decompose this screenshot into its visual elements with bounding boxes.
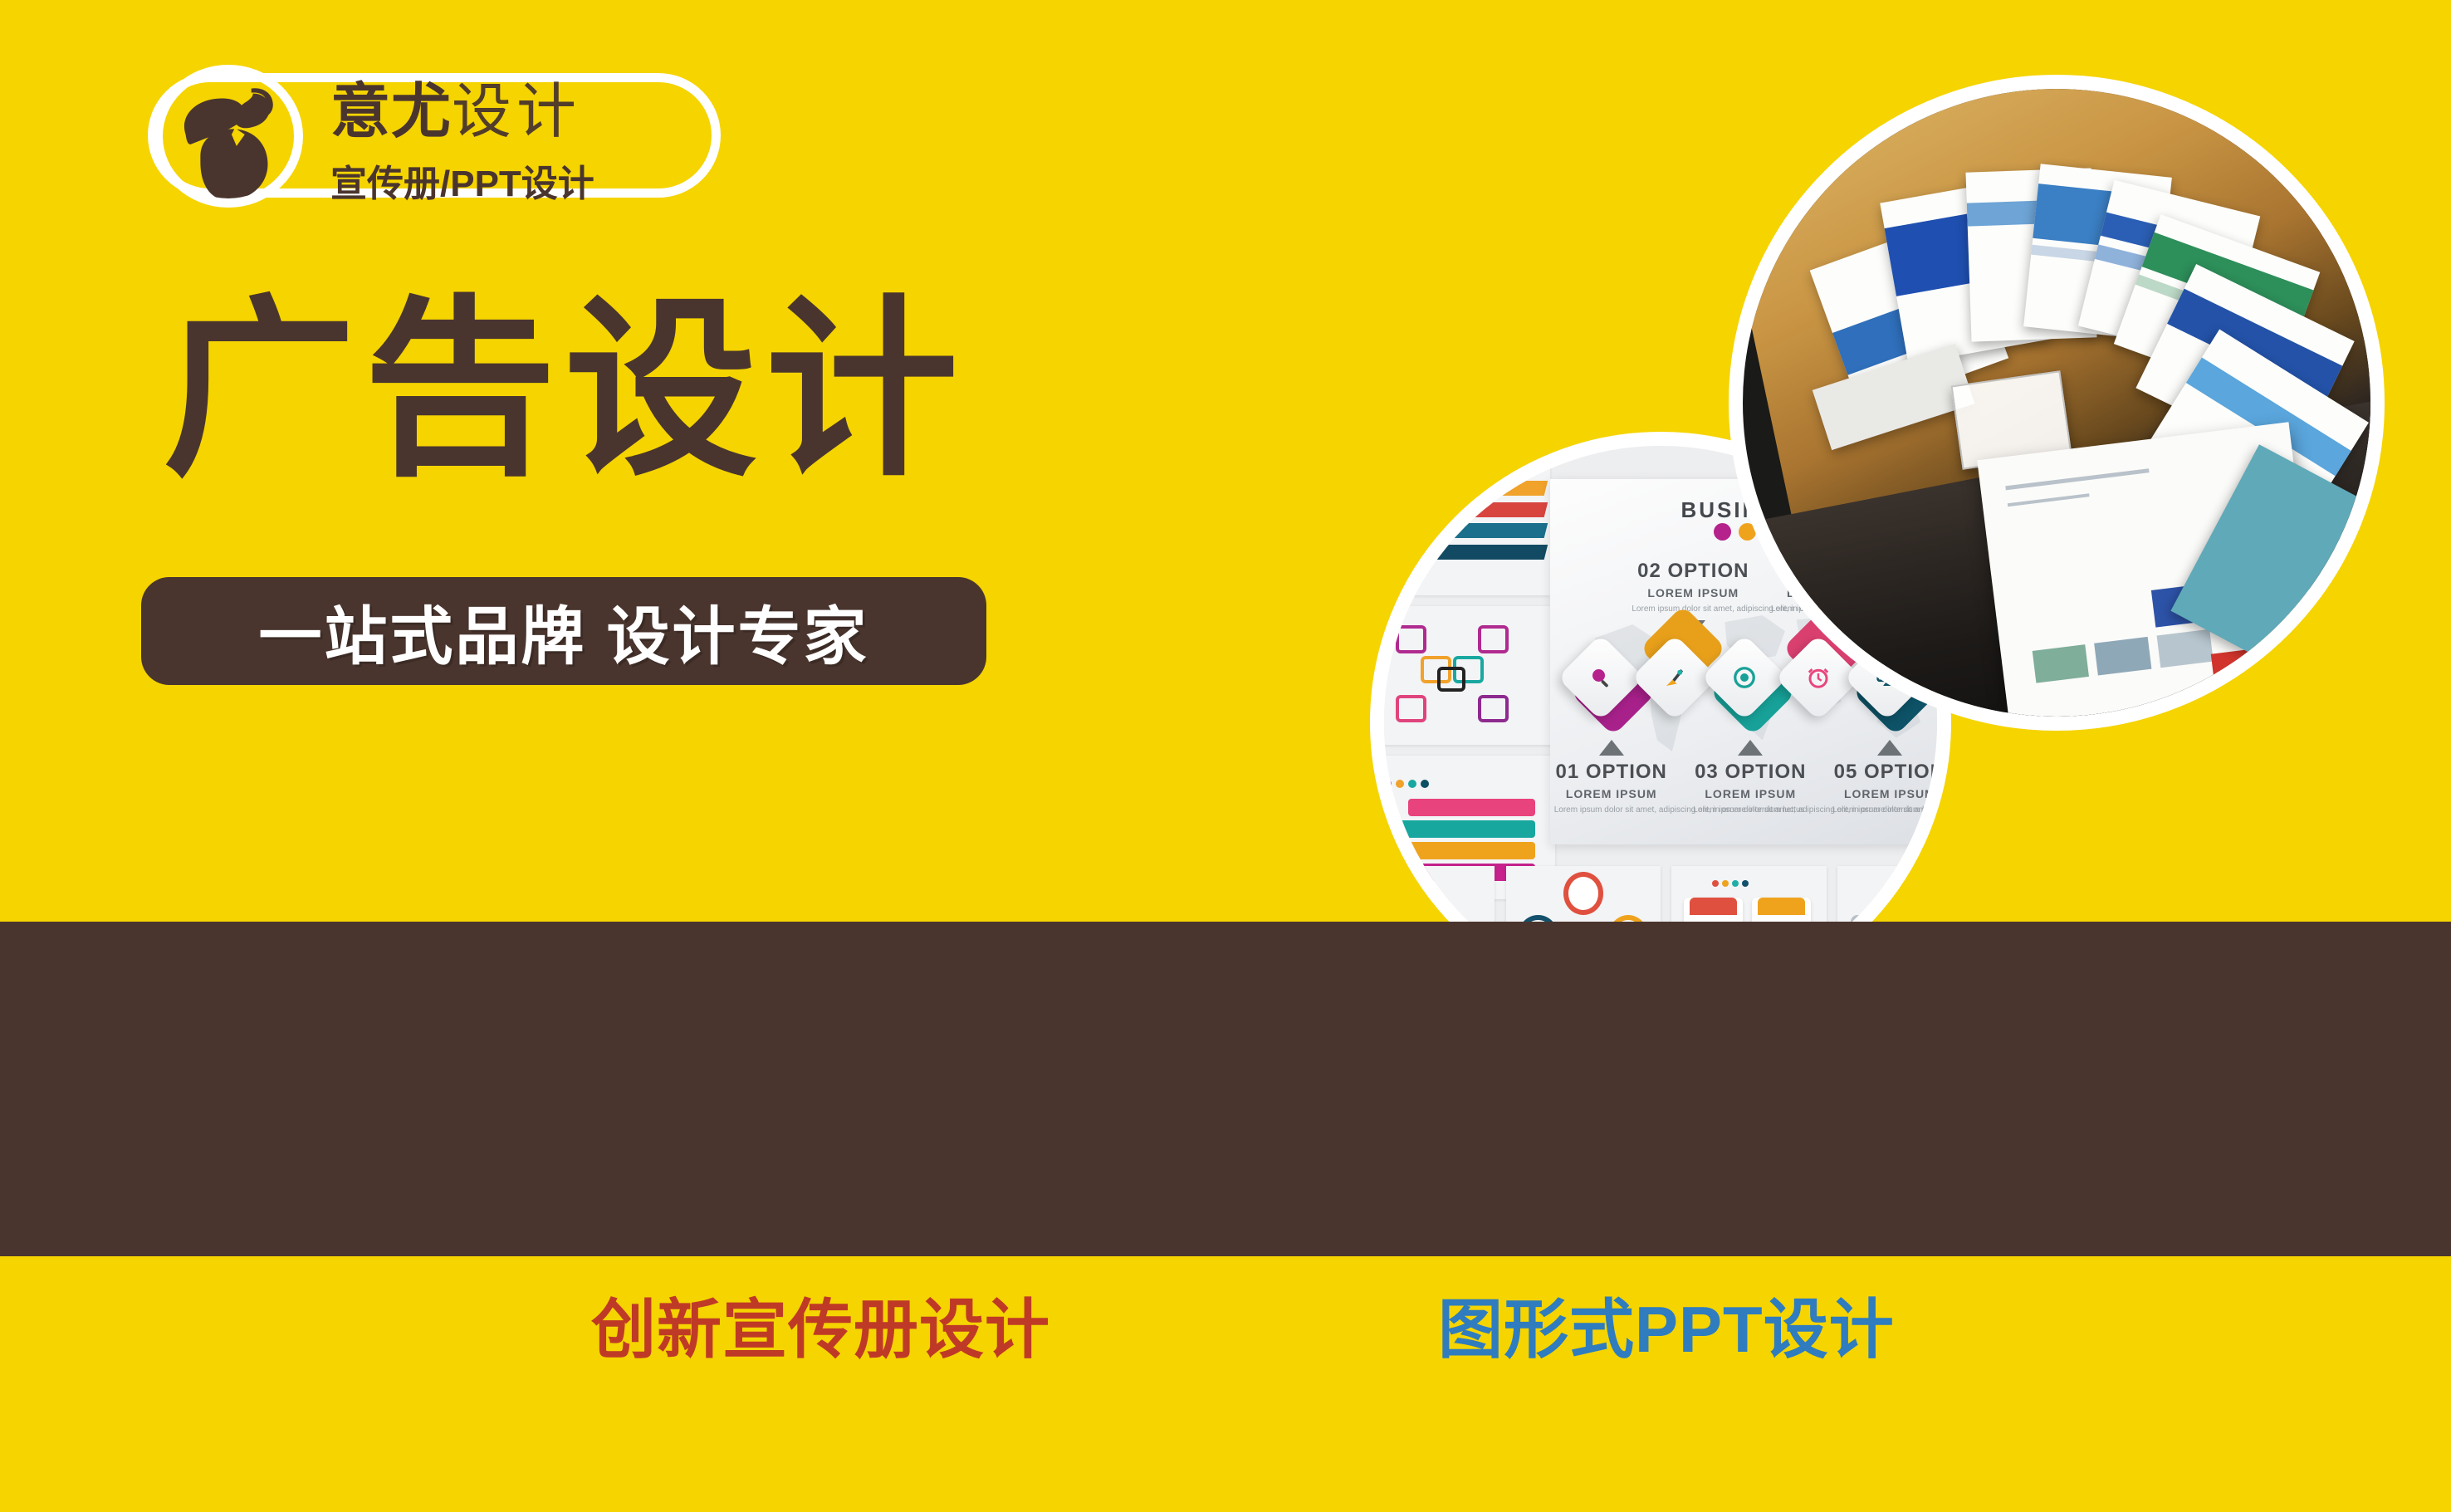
front-brochure-title-line xyxy=(2006,468,2150,490)
front-brochure-photo-block xyxy=(2157,630,2214,668)
up-triangle-icon xyxy=(1599,740,1624,756)
option-number: 05 OPTION xyxy=(1832,761,1947,784)
pyramid-layer xyxy=(1396,820,1535,838)
matrix-node xyxy=(1478,625,1509,653)
caption-left: 创新宣传册设计 xyxy=(591,1297,1050,1362)
ribbon-bar xyxy=(1370,523,1548,538)
front-brochure-title-line xyxy=(2008,493,2089,506)
up-triangle-icon xyxy=(1877,740,1902,756)
matrix-node xyxy=(1396,625,1426,653)
matrix-node xyxy=(1478,695,1509,722)
pyramid-layer xyxy=(1408,799,1535,816)
cross-matrix-tile xyxy=(1370,606,1555,745)
ribbon-tile xyxy=(1370,462,1550,595)
ribbon-bar xyxy=(1370,502,1548,517)
cycle-node-01 xyxy=(1563,872,1603,915)
logo-subtitle: 宣传册/PPT设计 xyxy=(330,154,594,207)
logo-title-bold: 意尤 xyxy=(330,79,452,145)
rocket-icon xyxy=(1662,665,1687,690)
option-number: 03 OPTION xyxy=(1693,761,1808,784)
option-label: LOREM IPSUM xyxy=(1554,787,1669,800)
step-tab xyxy=(1690,898,1737,915)
option-number: 01 OPTION xyxy=(1554,761,1669,784)
logo-oval-ring xyxy=(154,65,303,208)
pyramid-layer xyxy=(1382,842,1535,859)
option-desc: Lorem ipsum dolor sit amet, adipiscing e… xyxy=(1693,804,1808,816)
matrix-center xyxy=(1437,667,1465,692)
option-block-03: 03 OPTION LOREM IPSUM Lorem ipsum dolor … xyxy=(1693,735,1808,816)
ribbon-bar xyxy=(1370,545,1548,560)
tile-dotrow xyxy=(1712,880,1749,887)
step-tab xyxy=(1758,898,1805,915)
option-desc: Lorem ipsum dolor sit amet, adipiscing e… xyxy=(1554,804,1669,816)
option-label: LOREM IPSUM xyxy=(1832,787,1947,800)
matrix-node xyxy=(1396,695,1426,722)
caption-right: 图形式PPT设计 xyxy=(1438,1297,1895,1362)
red-seal-stamp xyxy=(2211,649,2252,690)
page-title: 广告设计 xyxy=(163,295,966,487)
option-label: LOREM IPSUM xyxy=(1632,586,1754,599)
logo-title-thin: 设计 xyxy=(452,76,581,146)
poster-canvas: BUSINESS TEMPLATE 02 OPTION LOREM IPSUM … xyxy=(0,0,2451,1512)
logo-title: 意尤设计 xyxy=(330,81,581,142)
ribbon-bar xyxy=(1372,481,1548,496)
front-brochure-photo-block xyxy=(2095,638,2151,676)
banner-band xyxy=(0,922,2451,1256)
tagline-badge: 一站式品牌 设计专家 xyxy=(141,577,986,685)
option-number: 02 OPTION xyxy=(1632,560,1754,583)
tile-dotrow xyxy=(1390,889,1436,896)
option-desc: Lorem ipsum dolor sit amet, adipiscing e… xyxy=(1832,804,1947,816)
option-block-05: 05 OPTION LOREM IPSUM Lorem ipsum dolor … xyxy=(1832,735,1947,816)
pyramid-dotrow xyxy=(1383,780,1429,788)
front-brochure-photo-block xyxy=(2033,645,2089,683)
option-block-01: 01 OPTION LOREM IPSUM Lorem ipsum dolor … xyxy=(1554,735,1669,816)
magnifier-icon xyxy=(1588,665,1613,690)
brochure-photo-circle xyxy=(1729,75,2385,731)
option-label: LOREM IPSUM xyxy=(1693,787,1808,800)
tagline-text: 一站式品牌 设计专家 xyxy=(258,585,868,677)
up-triangle-icon xyxy=(1738,740,1763,756)
option-desc: Lorem ipsum dolor sit amet, adipiscing e… xyxy=(1632,603,1754,615)
brochure-photo-image xyxy=(1743,89,2370,717)
